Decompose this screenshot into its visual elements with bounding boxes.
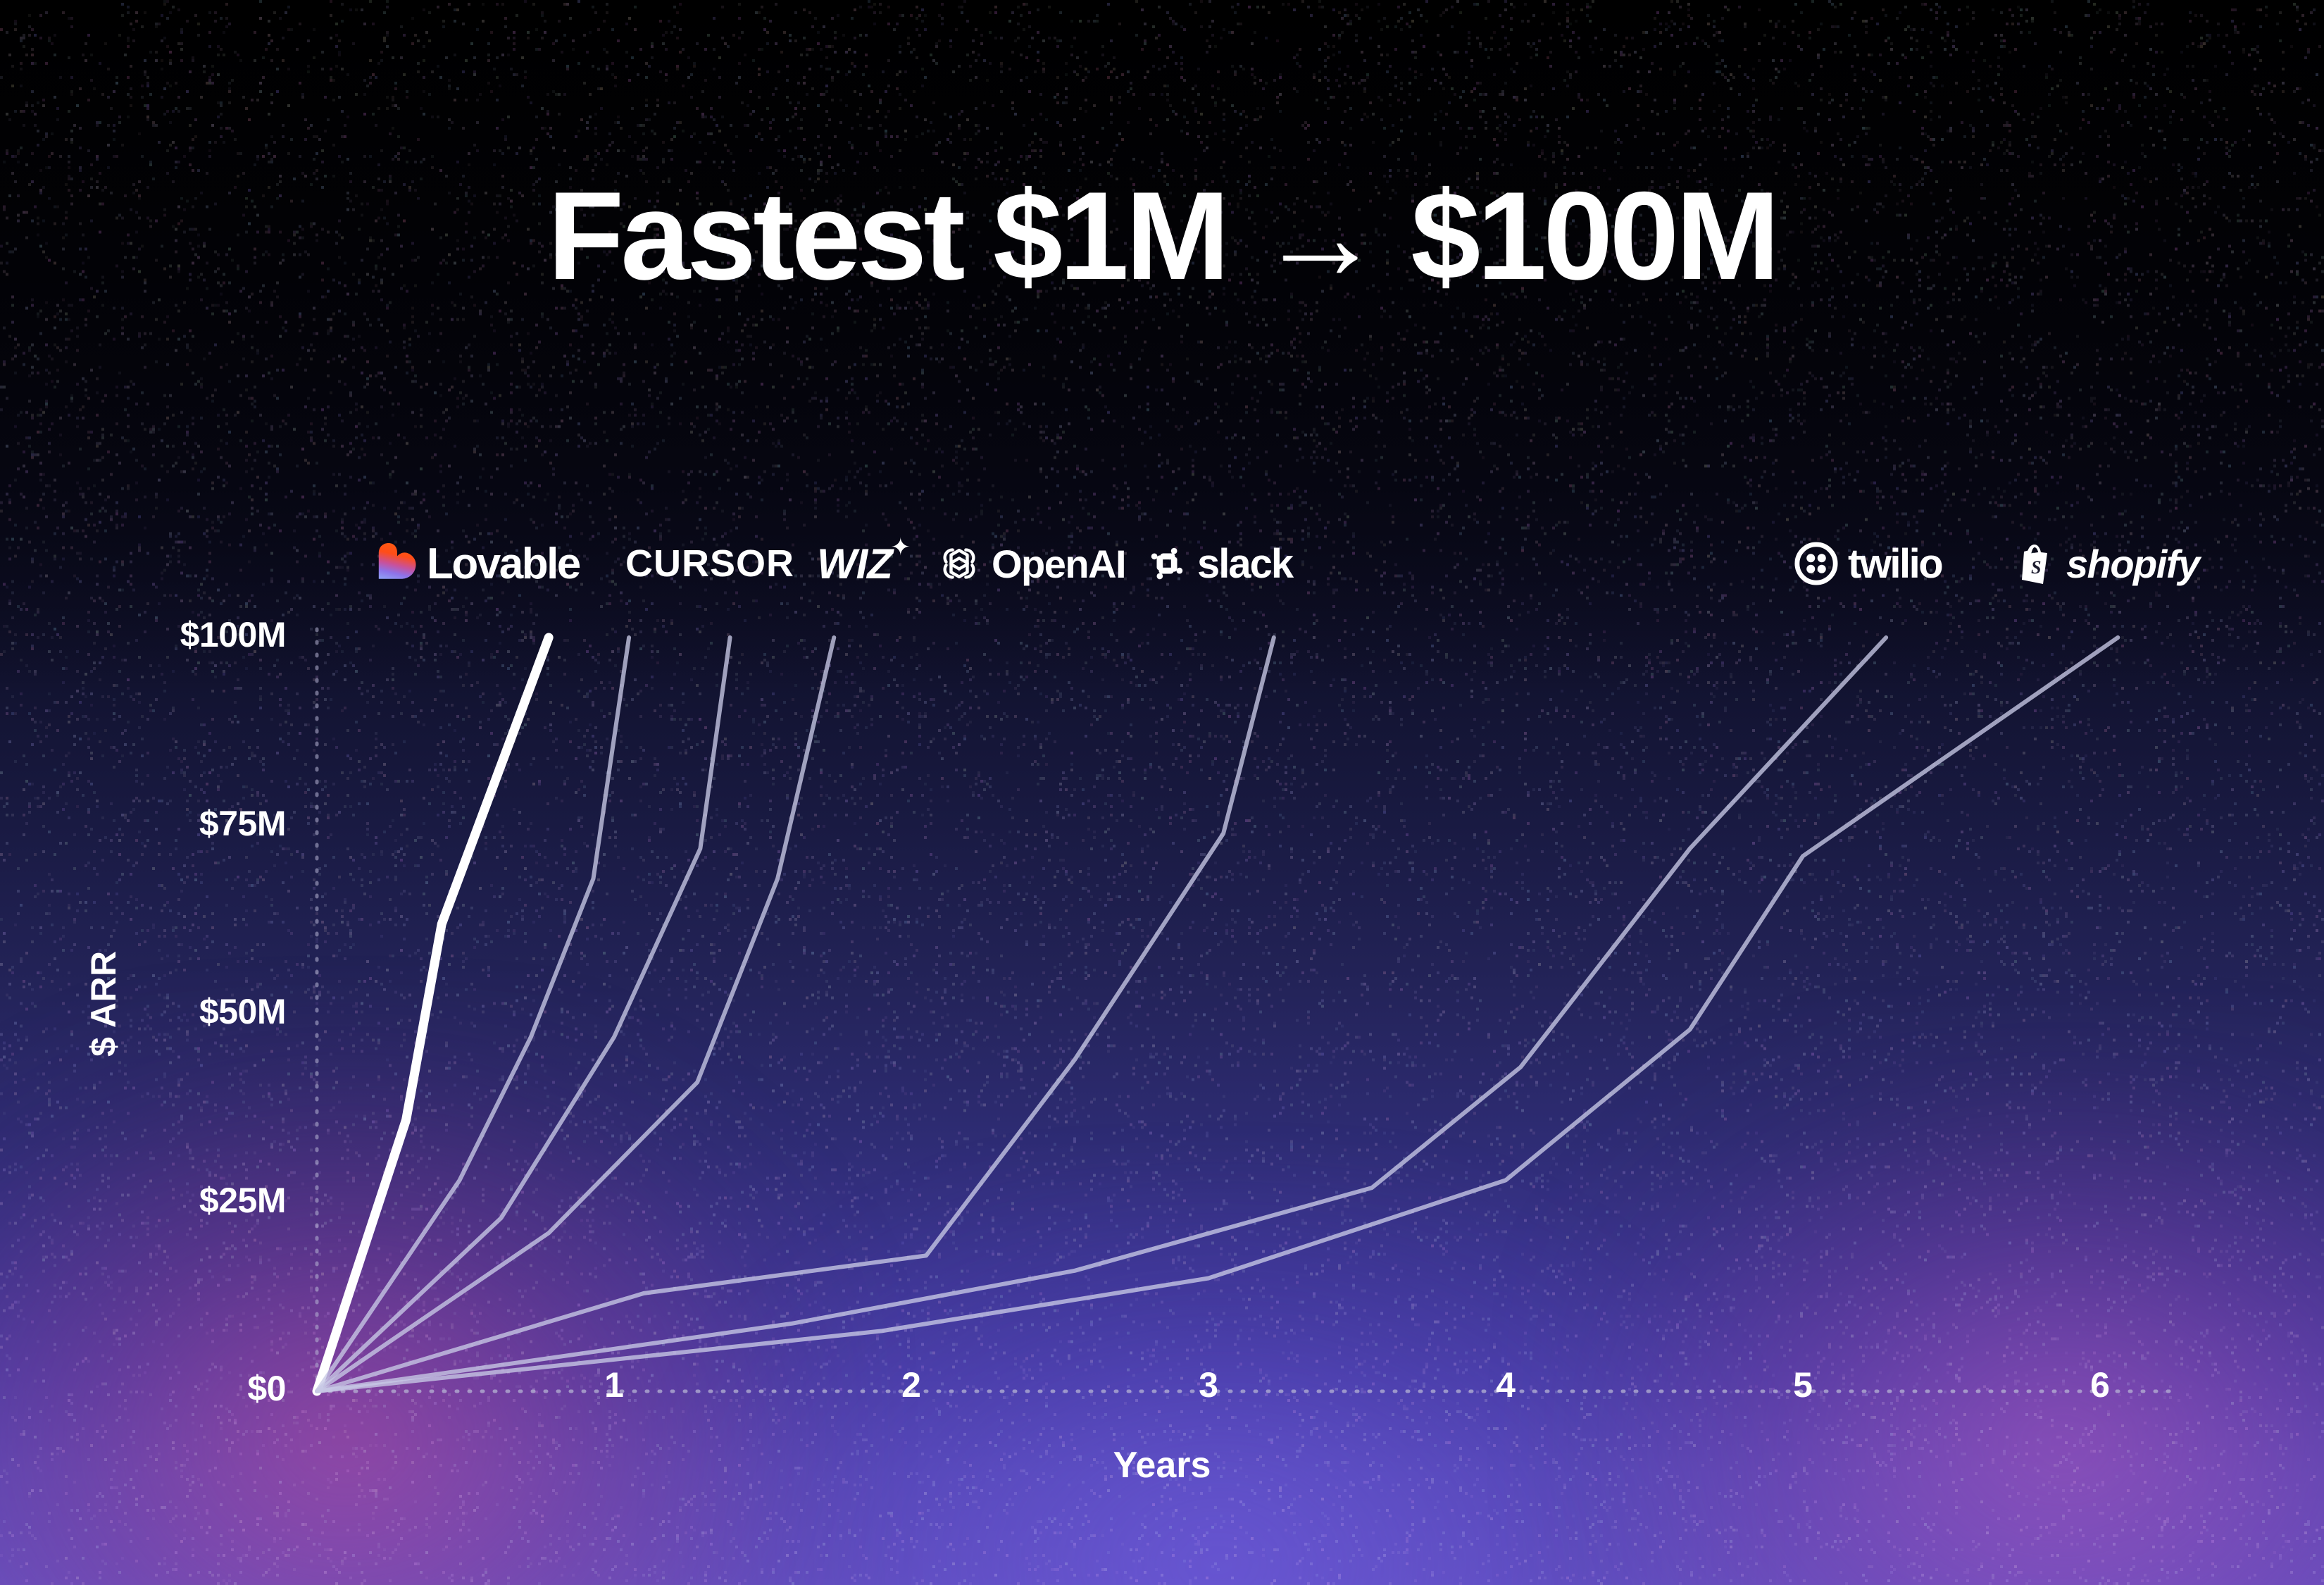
x-tick-label: 4 [1463,1365,1548,1405]
series-line-slack [317,638,1274,1391]
x-tick-label: 1 [572,1365,656,1405]
y-tick-label: $100M [180,614,286,655]
y-tick-label: $25M [199,1180,286,1221]
series-line-lovable [317,638,549,1391]
y-tick-label: $0 [247,1368,286,1409]
line-chart-plot [0,0,2324,1585]
series-line-wiz [317,638,730,1391]
y-tick-label: $50M [199,991,286,1032]
series-line-cursor [317,638,629,1391]
x-tick-label: 6 [2058,1365,2142,1405]
series-lines [317,638,2118,1391]
x-axis-title: Years [0,1444,2324,1486]
x-tick-label: 3 [1166,1365,1251,1405]
x-tick-label: 2 [869,1365,954,1405]
x-tick-label: 5 [1761,1365,1845,1405]
grid-lines [317,629,2169,1391]
series-line-twilio [317,638,1886,1391]
y-axis-title: $ ARR [83,950,124,1057]
chart-canvas: Fastest $1M → $100M Lovable CURSOR [0,0,2324,1585]
series-line-shopify [317,638,2118,1391]
y-tick-label: $75M [199,803,286,844]
